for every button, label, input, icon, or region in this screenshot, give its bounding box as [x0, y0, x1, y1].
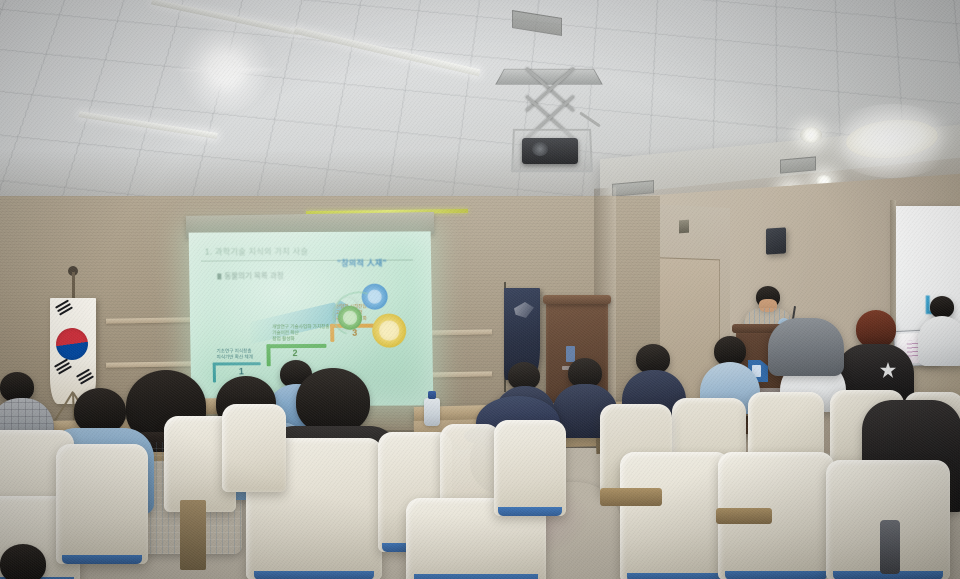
slide-quote: "창의적 人재" — [337, 258, 387, 269]
navy-flag-emblem-icon — [514, 302, 534, 318]
audience-member-red-hair — [836, 310, 912, 402]
projector-lens-icon — [532, 142, 548, 156]
seat-front-left-2[interactable] — [56, 444, 148, 564]
ceiling-projector — [492, 62, 612, 180]
seat-mid-center-2[interactable] — [494, 420, 566, 516]
armrest-2 — [716, 508, 772, 524]
armrest-1 — [600, 488, 662, 506]
audience-member-far-right — [922, 296, 960, 366]
scissor-lift-arms — [522, 80, 578, 132]
slide-subtitle-text: 동물의기 목록 과정 — [224, 271, 284, 280]
slide-step-2-number: 2 — [292, 348, 297, 358]
audience-head-nearest-left — [0, 544, 46, 579]
slide-subtitle: 동물의기 목록 과정 — [217, 270, 377, 282]
seat-leg — [180, 500, 206, 570]
wall-speaker-icon — [766, 227, 786, 254]
slide-title: 1. 과학기술 지식의 가치 사슬 — [205, 246, 405, 256]
projector-cable-arm — [579, 112, 601, 128]
wall-sensor-icon — [679, 220, 689, 234]
slide-step-1-number: 1 — [239, 366, 244, 376]
taeguk-symbol-icon — [50, 322, 93, 365]
seat-post — [880, 520, 900, 574]
projector-body — [522, 138, 578, 164]
lens-flare-streak — [168, 68, 284, 71]
ceiling-downlight-2 — [800, 127, 822, 143]
slide-step-2-label3: 창업 활성화 — [272, 336, 295, 342]
seat-front-center-4[interactable] — [620, 452, 730, 579]
lecture-hall-photo: 1. 과학기술 지식의 가치 사슬 동물의기 목록 과정 기초연구 지식창출 지… — [0, 0, 960, 579]
seat-mid-left-2[interactable] — [222, 404, 286, 492]
slide-step-1-label2: 지식기반 확산 체계 — [217, 354, 253, 360]
audience-member-gray-tee — [768, 302, 842, 370]
